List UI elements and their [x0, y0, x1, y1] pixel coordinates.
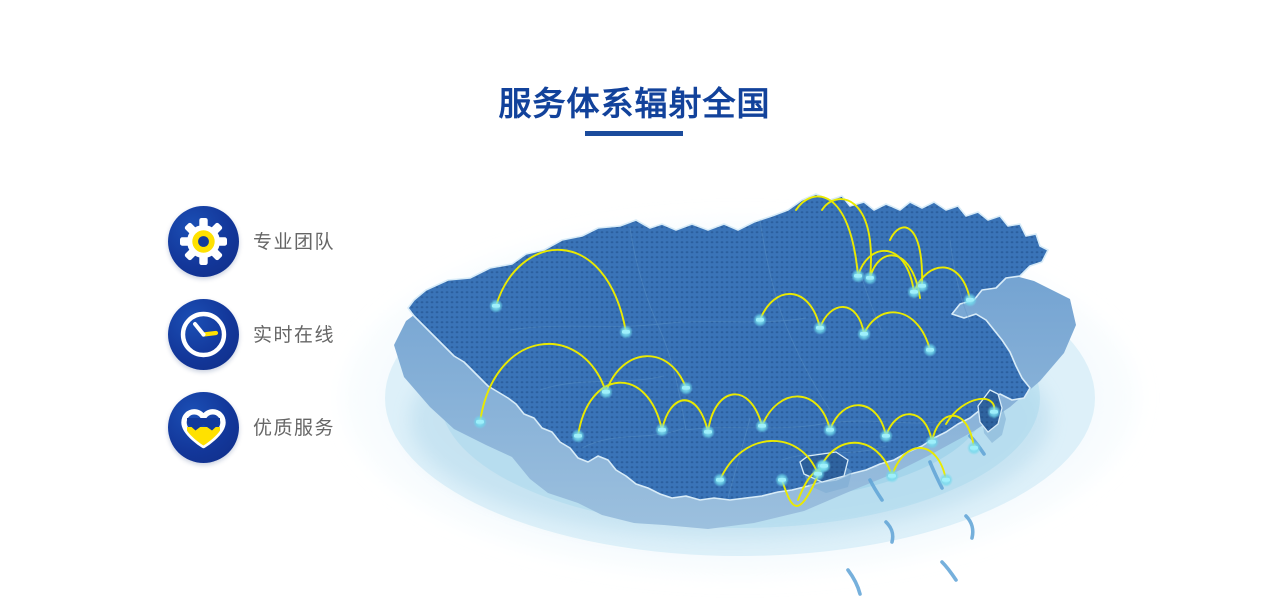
feature-label-quality-service: 优质服务: [253, 415, 335, 441]
feature-label-realtime-online: 实时在线: [253, 322, 335, 348]
page-canvas: 服务体系辐射全国: [0, 0, 1269, 603]
map-node-taiwan: [987, 405, 1001, 419]
feature-label-professional-team: 专业团队: [253, 229, 335, 255]
heart-icon: [168, 392, 239, 463]
map-node-hainan: [817, 459, 831, 473]
page-title-block: 服务体系辐射全国: [0, 84, 1269, 124]
china-service-coverage-map: [330, 180, 1160, 610]
page-title: 服务体系辐射全国: [499, 84, 771, 124]
gear-icon: [168, 206, 239, 277]
clock-icon: [168, 299, 239, 370]
title-underline: [585, 131, 683, 136]
